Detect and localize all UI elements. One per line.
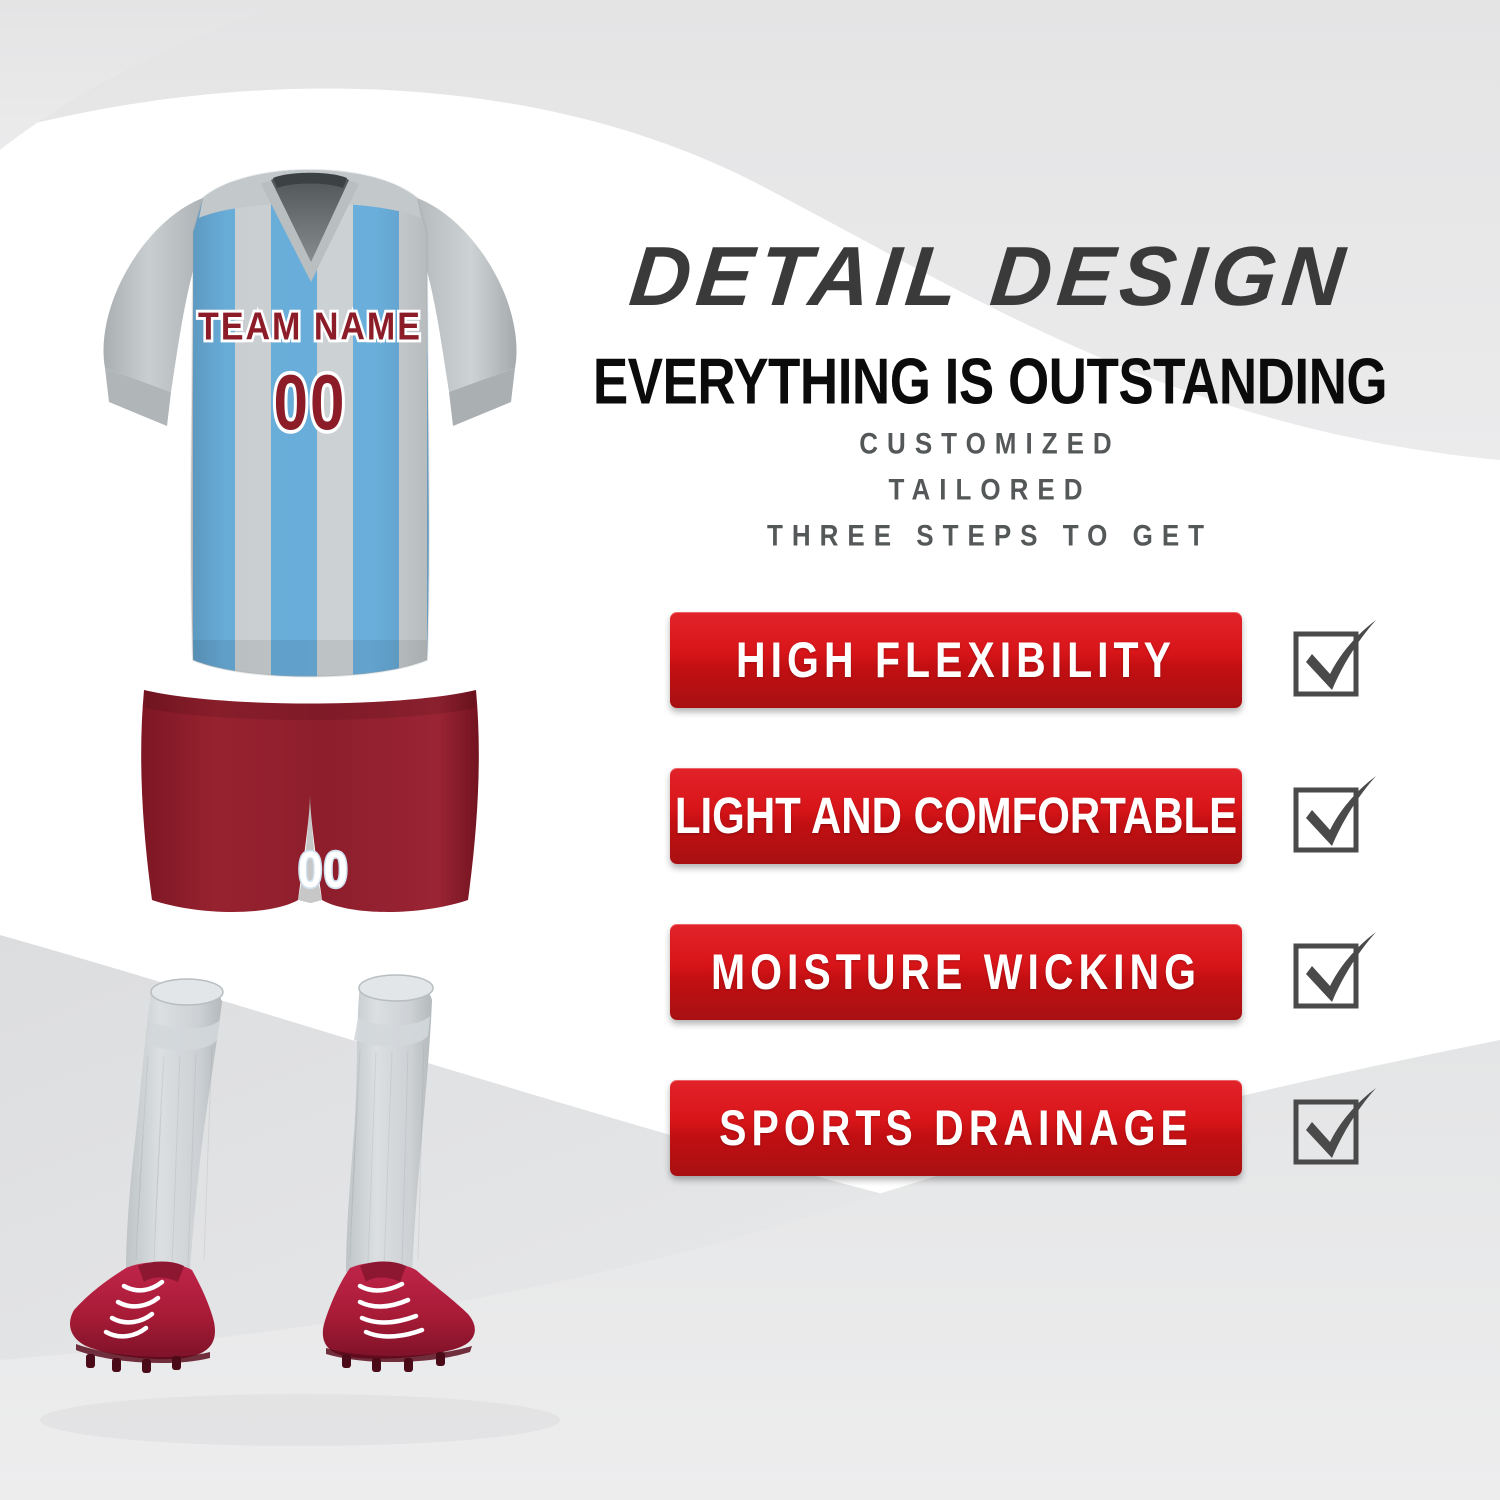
tagline-2: TAILORED — [540, 463, 1440, 516]
feature-label: HIGH FLEXIBILITY — [736, 631, 1176, 688]
feature-row: SPORTS DRAINAGE — [670, 1080, 1450, 1176]
product-image-column: TEAM NAME 00 00 — [0, 0, 620, 1500]
tagline-group: CUSTOMIZED TAILORED THREE STEPS TO GET — [540, 420, 1440, 558]
page-subtitle: EVERYTHING IS OUTSTANDING — [540, 345, 1440, 419]
feature-badge-moisture-wicking[interactable]: MOISTURE WICKING — [670, 924, 1242, 1020]
feature-badge-light-and-comfortable[interactable]: LIGHT AND COMFORTABLE — [670, 768, 1242, 864]
checkbox-checked-icon — [1288, 768, 1380, 864]
info-column: DETAIL DESIGN EVERYTHING IS OUTSTANDING … — [540, 0, 1500, 1500]
checkbox-checked-icon — [1288, 1080, 1380, 1176]
page-title: DETAIL DESIGN — [535, 228, 1445, 325]
feature-label: MOISTURE WICKING — [711, 943, 1201, 1000]
jersey-graphic: TEAM NAME 00 — [75, 140, 545, 700]
feature-badge-high-flexibility[interactable]: HIGH FLEXIBILITY — [670, 612, 1242, 708]
feature-label: SPORTS DRAINAGE — [719, 1099, 1193, 1156]
tagline-3: THREE STEPS TO GET — [540, 509, 1440, 562]
checkbox-checked-icon — [1288, 612, 1380, 708]
shorts-number: 00 — [298, 842, 349, 900]
feature-badge-sports-drainage[interactable]: SPORTS DRAINAGE — [670, 1080, 1242, 1176]
feature-list: HIGH FLEXIBILITY LIGHT AND COMFORTABLE — [670, 612, 1450, 1236]
checkbox-checked-icon — [1288, 924, 1380, 1020]
feature-row: HIGH FLEXIBILITY — [670, 612, 1450, 708]
legs-socks-cleats-graphic — [60, 960, 530, 1420]
feature-row: MOISTURE WICKING — [670, 924, 1450, 1020]
feature-label: LIGHT AND COMFORTABLE — [675, 787, 1237, 846]
tagline-1: CUSTOMIZED — [540, 417, 1440, 470]
feature-row: LIGHT AND COMFORTABLE — [670, 768, 1450, 864]
